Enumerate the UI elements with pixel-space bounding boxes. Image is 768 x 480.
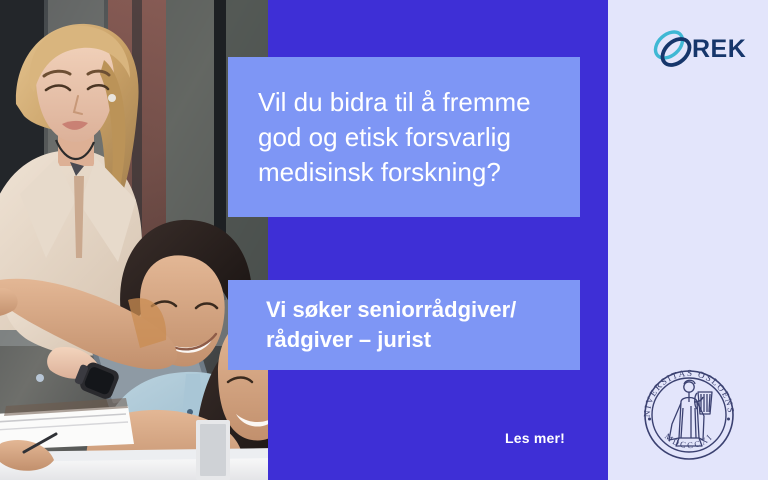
- headline-line-2: god og etisk forsvarlig: [258, 120, 531, 155]
- rek-wordmark: REK: [692, 35, 746, 64]
- headline-card: Vil du bidra til å fremme god og etisk f…: [228, 57, 580, 217]
- headline-line-3: medisinsk forskning?: [258, 155, 531, 190]
- interlocking-rings-icon: [650, 26, 696, 72]
- headline-text: Vil du bidra til å fremme god og etisk f…: [258, 85, 531, 190]
- role-card: Vi søker seniorrådgiver/ rådgiver – juri…: [228, 280, 580, 370]
- uio-seal: UNIVERSITAS OSLOENSIS MDCCCXI: [636, 362, 742, 468]
- role-line-1: Vi søker seniorrådgiver/: [266, 295, 516, 325]
- les-mer-link[interactable]: Les mer!: [505, 430, 565, 446]
- headline-line-1: Vil du bidra til å fremme: [258, 85, 531, 120]
- job-advert-banner: Vil du bidra til å fremme god og etisk f…: [0, 0, 768, 480]
- rek-logo[interactable]: REK: [650, 26, 745, 72]
- role-text: Vi søker seniorrådgiver/ rådgiver – juri…: [266, 295, 516, 355]
- role-line-2: rådgiver – jurist: [266, 325, 516, 355]
